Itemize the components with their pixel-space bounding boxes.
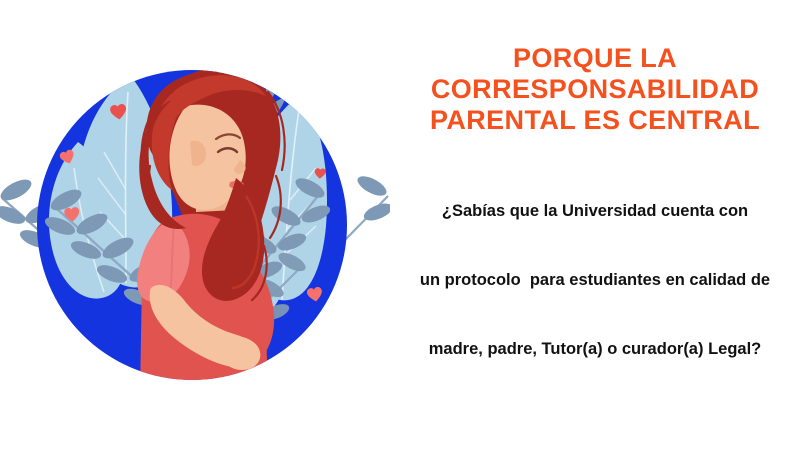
text-panel: PORQUE LA CORRESPONSABILIDAD PARENTAL ES… [390,0,800,450]
subcopy-text: ¿Sabías que la Universidad cuenta con un… [390,154,800,407]
headline-line-1: PORQUE LA [395,43,795,74]
page-title: PORQUE LA CORRESPONSABILIDAD PARENTAL ES… [395,43,795,136]
subcopy-line-3: madre, padre, Tutor(a) o curador(a) Lega… [390,338,800,361]
headline-line-2: CORRESPONSABILIDAD [395,74,795,105]
headline-line-3: PARENTAL ES CENTRAL [395,105,795,136]
subcopy-line-2: un protocolo para estudiantes en calidad… [390,269,800,292]
pregnancy-illustration [0,0,390,450]
pregnant-woman-figure [137,68,284,392]
illustration-panel [0,0,390,450]
poster-canvas: PORQUE LA CORRESPONSABILIDAD PARENTAL ES… [0,0,800,450]
subcopy-line-1: ¿Sabías que la Universidad cuenta con [390,200,800,223]
